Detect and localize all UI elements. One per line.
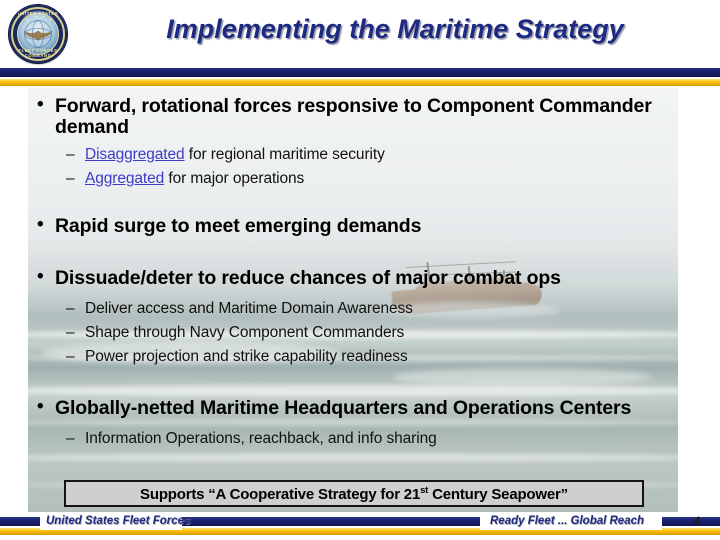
header-gold-rule — [0, 79, 720, 86]
sub-bullet-text: for major operations — [164, 170, 304, 187]
sub-bullet-text: for regional maritime security — [185, 146, 385, 163]
bullet-level1: Dissuade/deter to reduce chances of majo… — [28, 268, 678, 289]
bullet-level1: Rapid surge to meet emerging demands — [28, 216, 678, 237]
page-number: 4 — [694, 514, 701, 528]
bullet-level2: Disaggregated for regional maritime secu… — [28, 143, 678, 167]
supports-callout-box: Supports “A Cooperative Strategy for 21s… — [64, 480, 644, 507]
bullet-level2: Deliver access and Maritime Domain Aware… — [28, 297, 678, 321]
slide: UNITED STATES FLEET FORCES COMMAND Imple… — [0, 0, 720, 540]
callout-suffix: Century Seapower” — [428, 486, 568, 503]
bullet-body: Forward, rotational forces responsive to… — [28, 88, 678, 512]
bullet-level2: Information Operations, reachback, and i… — [28, 427, 678, 451]
footer-right-label: Ready Fleet ... Global Reach — [490, 515, 644, 527]
callout-prefix: Supports “A Cooperative Strategy for 21 — [140, 486, 420, 503]
bullet-block-4: Globally-netted Maritime Headquarters an… — [28, 398, 678, 451]
bullet-level1: Globally-netted Maritime Headquarters an… — [28, 398, 678, 419]
bullet-block-1: Forward, rotational forces responsive to… — [28, 96, 678, 191]
header-navy-rule — [0, 68, 720, 77]
bullet-level1: Forward, rotational forces responsive to… — [28, 96, 678, 137]
bullet-level2: Shape through Navy Component Commanders — [28, 321, 678, 345]
content-panel: Forward, rotational forces responsive to… — [28, 88, 678, 512]
footer-left-label: United States Fleet Forces — [46, 515, 190, 527]
page-title: Implementing the Maritime Strategy — [80, 14, 710, 45]
bullet-block-2: Rapid surge to meet emerging demands — [28, 216, 678, 237]
slide-footer: United States Fleet Forces Ready Fleet .… — [0, 512, 720, 540]
link-aggregated[interactable]: Aggregated — [85, 170, 164, 187]
callout-superscript: st — [420, 485, 428, 496]
bullet-level2: Aggregated for major operations — [28, 167, 678, 191]
link-disaggregated[interactable]: Disaggregated — [85, 146, 185, 163]
bullet-block-3: Dissuade/deter to reduce chances of majo… — [28, 268, 678, 369]
fleet-forces-seal-icon: UNITED STATES FLEET FORCES COMMAND — [9, 5, 67, 63]
seal-text-top: UNITED STATES — [9, 11, 67, 16]
bullet-level2: Power projection and strike capability r… — [28, 345, 678, 369]
callout-text: Supports “A Cooperative Strategy for 21s… — [140, 485, 568, 503]
slide-header: UNITED STATES FLEET FORCES COMMAND Imple… — [0, 0, 720, 68]
seal-text-bottom: FLEET FORCES COMMAND — [9, 48, 67, 58]
seal-eagle-icon — [23, 28, 53, 42]
